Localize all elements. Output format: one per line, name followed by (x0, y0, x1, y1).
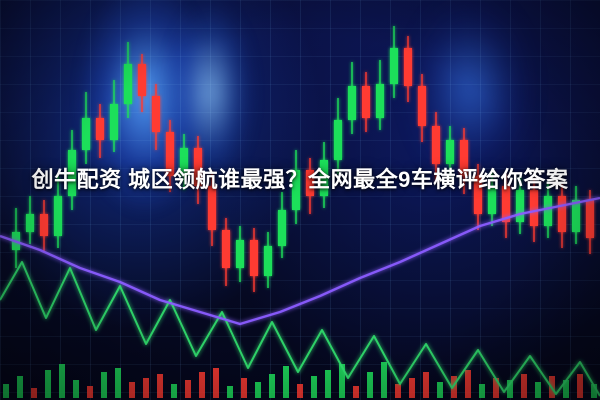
candle-body (334, 120, 342, 160)
volume-bar (3, 384, 9, 398)
volume-bar (269, 374, 275, 398)
candle-series (12, 26, 594, 292)
trend-lines (0, 198, 600, 396)
candle-body (376, 84, 384, 118)
candle-body (124, 64, 132, 104)
volume-bar (535, 382, 541, 398)
volume-bar (311, 376, 317, 398)
candle-body (390, 48, 398, 84)
candle-body (432, 126, 440, 164)
volume-bar (297, 384, 303, 398)
volume-bar (241, 378, 247, 398)
volume-bar (143, 378, 149, 398)
candle-body (110, 104, 118, 140)
overlay-headline: 创牛配资 城区领航谁最强？全网最全9车横评给你答案 (0, 160, 600, 200)
volume-bar (157, 374, 163, 398)
candle-body (250, 240, 258, 276)
candlestick-chart (0, 0, 600, 400)
volume-bar (367, 372, 373, 398)
candle-body (404, 48, 412, 86)
volume-bar (479, 384, 485, 398)
trend-line-green-zigzag (0, 262, 600, 396)
candle-body (572, 200, 580, 232)
candle-body (586, 200, 594, 238)
volume-bar (283, 366, 289, 398)
candle-body (222, 230, 230, 268)
volume-bar (213, 368, 219, 398)
candle-body (96, 118, 104, 140)
candle-body (236, 240, 244, 268)
volume-bar (171, 384, 177, 398)
volume-bar (45, 370, 51, 398)
volume-bar (325, 370, 331, 398)
image-canvas: 创牛配资 城区领航谁最强？全网最全9车横评给你答案 (0, 0, 600, 400)
candle-body (40, 214, 48, 236)
volume-bar (409, 378, 415, 398)
candle-body (54, 196, 62, 236)
volume-bar (381, 362, 387, 398)
volume-bar (199, 372, 205, 398)
candle-body (264, 246, 272, 276)
volume-bar (73, 380, 79, 398)
volume-bar (255, 382, 261, 398)
volume-bar (31, 388, 37, 398)
volume-bar (395, 384, 401, 398)
candle-body (362, 86, 370, 118)
volume-bar (423, 372, 429, 398)
volume-bar (521, 374, 527, 398)
candle-body (138, 64, 146, 96)
candle-body (418, 86, 426, 126)
candle-body (278, 210, 286, 246)
volume-bar (227, 386, 233, 398)
volume-bar (465, 370, 471, 398)
candle-body (82, 118, 90, 150)
volume-bar (17, 376, 23, 398)
volume-bar (129, 382, 135, 398)
volume-bar (437, 382, 443, 398)
trend-line-purple-trend (0, 198, 600, 324)
candle-body (544, 196, 552, 226)
volume-bar (185, 380, 191, 398)
volume-bar (59, 364, 65, 398)
candle-body (152, 96, 160, 132)
candle-body (348, 86, 356, 120)
volume-bar (115, 368, 121, 398)
volume-bar (101, 372, 107, 398)
candle-body (26, 214, 34, 232)
volume-bar (577, 374, 583, 398)
candle-body (558, 196, 566, 232)
volume-bar (353, 386, 359, 398)
volume-bar (87, 386, 93, 398)
